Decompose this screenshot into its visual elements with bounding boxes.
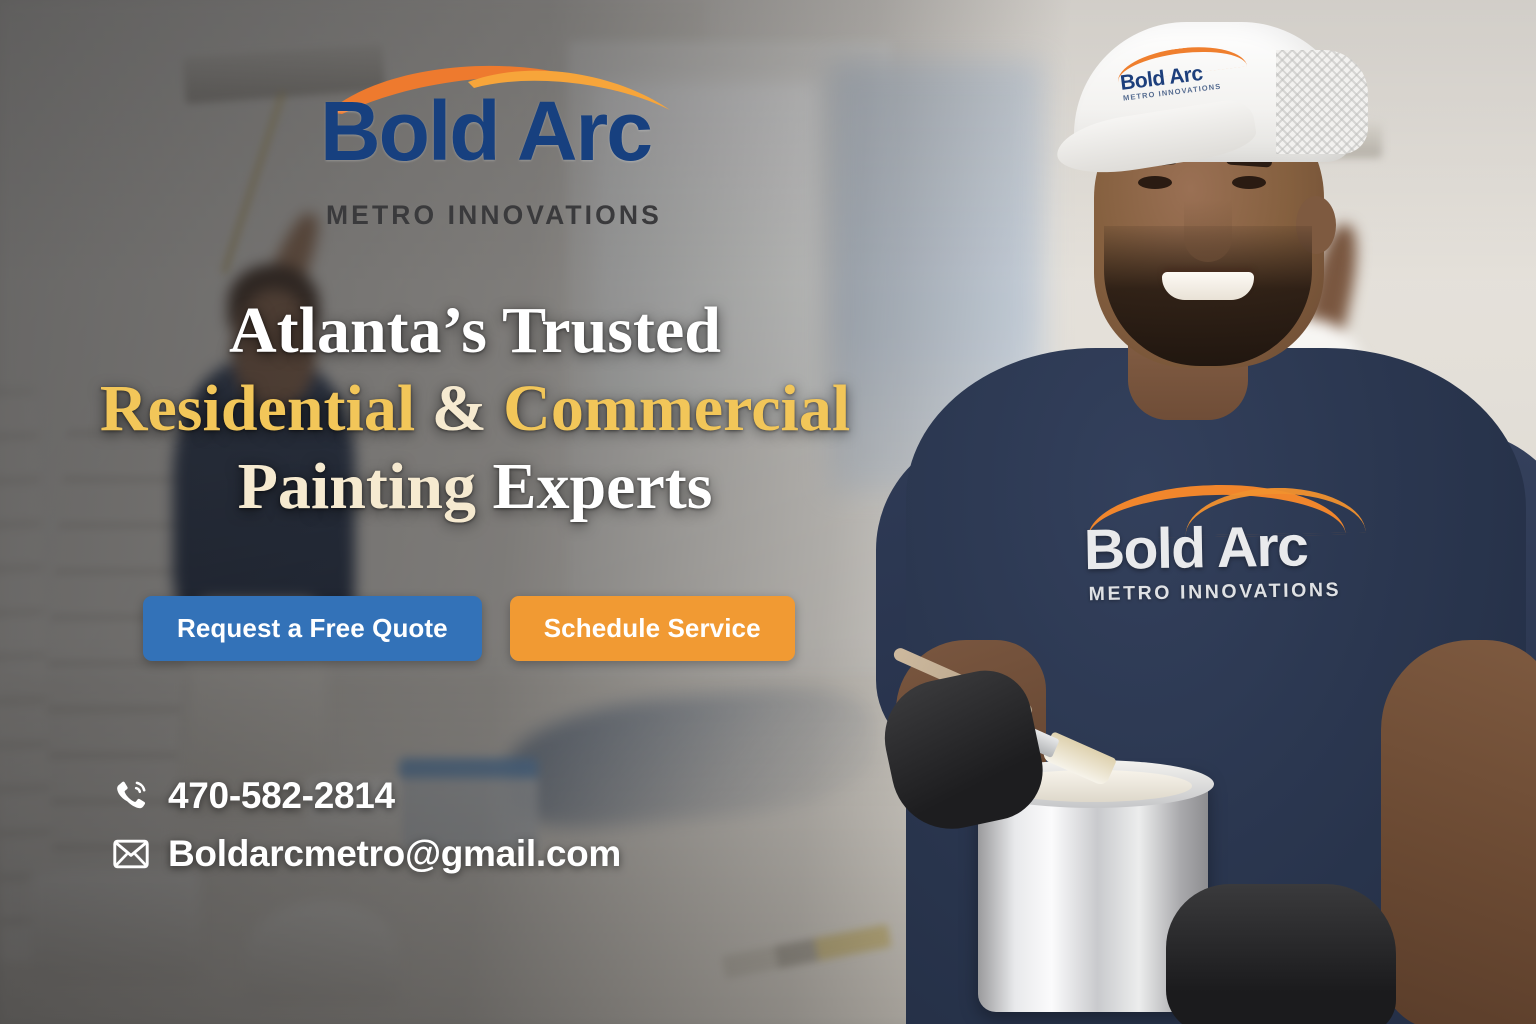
hero-glove-right [1166,884,1396,1024]
headline-experts: Experts [492,450,712,523]
hero-banner: Bold Arc METRO INNOVATIONS Bold Arc METR… [0,0,1536,1024]
hero-painter-photo: Bold Arc METRO INNOVATIONS Bold Arc METR… [866,0,1536,1024]
hero-nose [1184,200,1232,262]
contact-phone-number: 470-582-2814 [168,775,395,817]
envelope-icon [112,835,150,873]
contact-phone-row[interactable]: 470-582-2814 [112,775,621,817]
headline-line-1: Atlanta’s Trusted [0,292,950,370]
tshirt-logo: Bold Arc METRO INNOVATIONS [1065,482,1367,627]
page-headline: Atlanta’s Trusted Residential & Commerci… [0,292,950,526]
phone-icon [112,777,150,815]
headline-ampersand: & [415,372,503,445]
brand-logo-name: Bold Arc [320,90,690,172]
headline-commercial: Commercial [503,372,850,445]
hero-smile [1162,272,1254,300]
headline-painting: Painting [238,450,476,523]
contact-block: 470-582-2814 Boldarcmetro@gmail.com [112,775,621,891]
brand-logo-tagline: METRO INNOVATIONS [326,200,696,231]
tshirt-logo-tagline: METRO INNOVATIONS [1088,579,1341,606]
headline-line-3: Painting Experts [0,448,950,526]
contact-email-row[interactable]: Boldarcmetro@gmail.com [112,833,621,875]
contact-email-address: Boldarcmetro@gmail.com [168,833,621,875]
hero-arm-right [1381,640,1536,1024]
headline-line-2: Residential & Commercial [0,370,950,448]
hero-eye-right [1232,176,1266,189]
hero-eye-left [1138,176,1172,189]
request-quote-button[interactable]: Request a Free Quote [143,596,482,661]
cta-button-group: Request a Free Quote Schedule Service [143,596,795,661]
headline-line-1-text: Atlanta’s Trusted [229,294,721,367]
brand-logo[interactable]: Bold Arc METRO INNOVATIONS [318,52,688,207]
headline-residential: Residential [100,372,415,445]
hero-cap-mesh-panel [1276,50,1368,154]
schedule-service-button[interactable]: Schedule Service [510,596,795,661]
tshirt-logo-name: Bold Arc [1083,513,1308,583]
